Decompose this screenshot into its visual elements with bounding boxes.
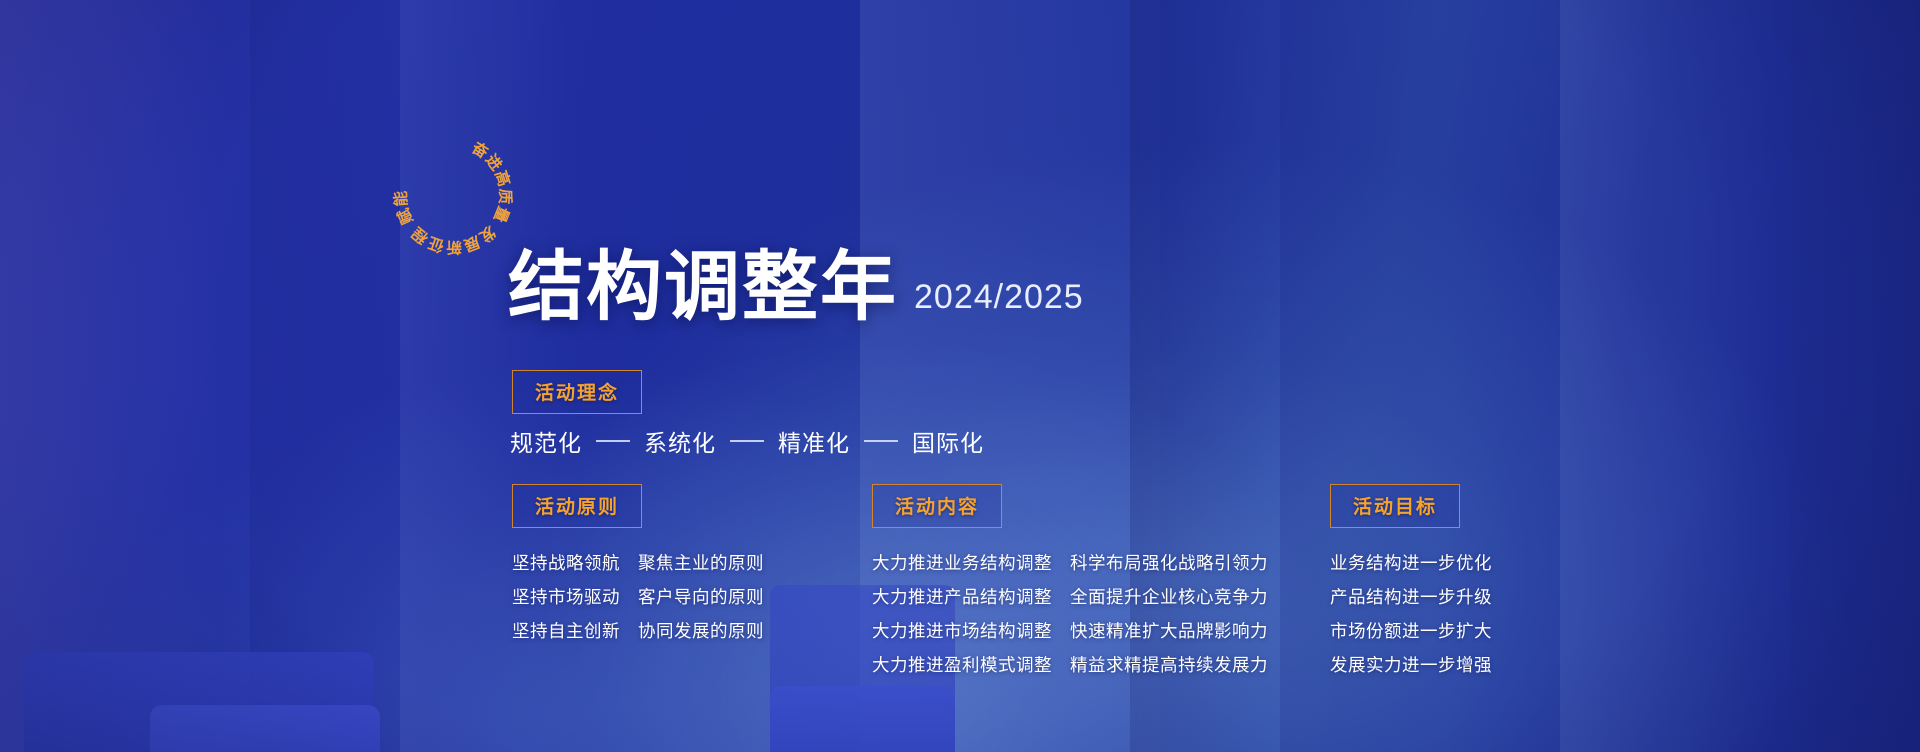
principles-lines: 坚持战略领航 聚焦主业的原则 坚持市场驱动 客户导向的原则 坚持自主创新 协同发… — [512, 550, 764, 643]
page-title: 结构调整年 — [508, 250, 898, 326]
list-item-segment: 业务结构进一步优化 — [1330, 550, 1492, 575]
list-item-segment: 产品结构进一步升级 — [1330, 584, 1492, 609]
contents-badge-wrap: 活动内容 — [872, 484, 1268, 528]
year-label: 2024/2025 — [914, 278, 1084, 326]
list-item-segment: 全面提升企业核心竞争力 — [1070, 584, 1268, 609]
poster-content: 奋进高质量 发展新征程 赋能 创新转型 增动能 结构调整年 2024/2025 … — [0, 0, 1920, 752]
chain-dash-icon — [864, 440, 898, 442]
list-item: 坚持战略领航 聚焦主业的原则 — [512, 550, 764, 575]
column-goals: 活动目标 业务结构进一步优化 产品结构进一步升级 市场份额进一步扩大 发展实力进… — [1330, 484, 1492, 677]
list-item-segment: 大力推进业务结构调整 — [872, 550, 1052, 575]
list-item-segment: 发展实力进一步增强 — [1330, 652, 1492, 677]
concept-chain-item: 系统化 — [644, 424, 716, 458]
ring-slogan-textpath: 奋进高质量 发展新征程 赋能 创新转型 增动能 — [389, 125, 516, 257]
list-item-segment: 科学布局强化战略引领力 — [1070, 550, 1268, 575]
list-item: 发展实力进一步增强 — [1330, 652, 1492, 677]
concept-chain-item: 国际化 — [912, 424, 984, 458]
list-item: 大力推进市场结构调整 快速精准扩大品牌影响力 — [872, 618, 1268, 643]
list-item: 坚持市场驱动 客户导向的原则 — [512, 584, 764, 609]
list-item-segment: 市场份额进一步扩大 — [1330, 618, 1492, 643]
column-contents: 活动内容 大力推进业务结构调整 科学布局强化战略引领力 大力推进产品结构调整 全… — [872, 484, 1268, 677]
list-item-segment: 大力推进市场结构调整 — [872, 618, 1052, 643]
contents-lines: 大力推进业务结构调整 科学布局强化战略引领力 大力推进产品结构调整 全面提升企业… — [872, 550, 1268, 677]
list-item-segment: 协同发展的原则 — [638, 618, 764, 643]
list-item: 大力推进产品结构调整 全面提升企业核心竞争力 — [872, 584, 1268, 609]
chain-dash-icon — [730, 440, 764, 442]
principles-badge-label: 活动原则 — [535, 492, 619, 519]
goals-lines: 业务结构进一步优化 产品结构进一步升级 市场份额进一步扩大 发展实力进一步增强 — [1330, 550, 1492, 677]
contents-badge-label: 活动内容 — [895, 492, 979, 519]
goals-badge-label: 活动目标 — [1353, 492, 1437, 519]
chain-dash-icon — [596, 440, 630, 442]
list-item: 坚持自主创新 协同发展的原则 — [512, 618, 764, 643]
title-row: 结构调整年 2024/2025 — [508, 250, 1084, 326]
concept-chain-item: 精准化 — [778, 424, 850, 458]
concept-chain-item: 规范化 — [510, 424, 582, 458]
concept-badge: 活动理念 — [512, 370, 642, 414]
goals-badge: 活动目标 — [1330, 484, 1460, 528]
contents-badge: 活动内容 — [872, 484, 1002, 528]
list-item-segment: 坚持战略领航 — [512, 550, 620, 575]
list-item-segment: 精益求精提高持续发展力 — [1070, 652, 1268, 677]
principles-badge-wrap: 活动原则 — [512, 484, 764, 528]
list-item-segment: 快速精准扩大品牌影响力 — [1070, 618, 1268, 643]
list-item: 大力推进盈利模式调整 精益求精提高持续发展力 — [872, 652, 1268, 677]
list-item-segment: 坚持自主创新 — [512, 618, 620, 643]
list-item-segment: 坚持市场驱动 — [512, 584, 620, 609]
concept-chain: 规范化 系统化 精准化 国际化 — [510, 424, 984, 458]
list-item-segment: 大力推进盈利模式调整 — [872, 652, 1052, 677]
list-item: 业务结构进一步优化 — [1330, 550, 1492, 575]
list-item-segment: 聚焦主业的原则 — [638, 550, 764, 575]
list-item: 产品结构进一步升级 — [1330, 584, 1492, 609]
list-item-segment: 客户导向的原则 — [638, 584, 764, 609]
ring-slogan-text: 奋进高质量 发展新征程 赋能 创新转型 增动能 — [389, 125, 516, 257]
column-principles: 活动原则 坚持战略领航 聚焦主业的原则 坚持市场驱动 客户导向的原则 坚持自主创… — [512, 484, 764, 643]
list-item-segment: 大力推进产品结构调整 — [872, 584, 1052, 609]
principles-badge: 活动原则 — [512, 484, 642, 528]
goals-badge-wrap: 活动目标 — [1330, 484, 1492, 528]
list-item: 市场份额进一步扩大 — [1330, 618, 1492, 643]
concept-badge-label: 活动理念 — [535, 378, 619, 405]
list-item: 大力推进业务结构调整 科学布局强化战略引领力 — [872, 550, 1268, 575]
circular-slogan-ring: 奋进高质量 发展新征程 赋能 创新转型 增动能 — [398, 140, 508, 250]
